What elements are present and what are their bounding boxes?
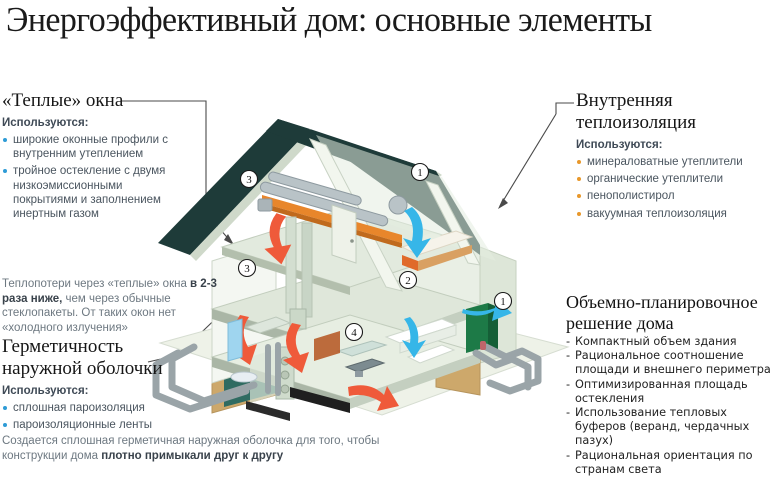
svg-text:3: 3: [246, 174, 252, 186]
insulation-subtitle: Используются:: [576, 139, 778, 151]
list-item: тройное остекление с двумя низкоэмиссион…: [2, 164, 187, 221]
list-item: Оптимизированная площадь остекления: [566, 378, 778, 406]
list-item: минераловатные утеплители: [576, 155, 778, 169]
warm-windows-heading: «Теплые» окна: [2, 90, 187, 112]
list-item: Рациональная ориентация по странам света: [566, 449, 778, 477]
list-item: органические утеплители: [576, 172, 778, 186]
planning-list: Компактный объем здания Рациональное соо…: [566, 335, 778, 477]
planning-heading-line2: решение дома: [566, 313, 778, 334]
block-airtightness: Герметичность наружной оболочки Использу…: [2, 336, 202, 435]
airtightness-heading-line1: Герметичность: [2, 336, 202, 358]
block-volumetric-planning: Объемно-планировочное решение дома Компа…: [566, 292, 778, 477]
cutaway-house-illustration: 1 2 3 3 4 1: [150, 95, 570, 435]
insulation-list: минераловатные утеплители органические у…: [576, 155, 778, 221]
infographic-root: Энергоэффективный дом: основные элементы: [0, 0, 780, 470]
block-warm-windows: «Теплые» окна Используются: широкие окон…: [2, 90, 187, 224]
airtightness-list: сплошная пароизоляция пароизоляционные л…: [2, 401, 202, 432]
warm-windows-list: широкие оконные профили с внутренним уте…: [2, 133, 187, 221]
airtightness-heading-line2: наружной оболочки: [2, 358, 202, 380]
list-item: вакуумная теплоизоляция: [576, 207, 778, 221]
insulation-heading-line1: Внутренняя: [576, 90, 778, 112]
list-item: широкие оконные профили с внутренним уте…: [2, 133, 187, 161]
warm-windows-subtitle: Используются:: [2, 117, 187, 129]
list-item: Рациональное соотношение площади и внешн…: [566, 349, 778, 377]
svg-text:1: 1: [417, 167, 423, 179]
svg-text:3: 3: [244, 263, 250, 275]
svg-text:4: 4: [351, 327, 357, 339]
svg-text:1: 1: [500, 296, 506, 308]
airtightness-subtitle: Используются:: [2, 385, 202, 397]
list-item: пенополистирол: [576, 189, 778, 203]
block-envelope-note: Создается сплошная герметичная наружная …: [2, 434, 422, 463]
svg-text:2: 2: [405, 275, 411, 287]
envelope-note-bold: плотно примыкали друг к другу: [101, 450, 283, 462]
heatloss-line1: Теплопотери через «теплые» окна: [2, 278, 187, 290]
block-internal-insulation: Внутренняя теплоизоляция Используются: м…: [576, 90, 778, 224]
block-window-heatloss-note: Теплопотери через «теплые» окна в 2-3 ра…: [2, 277, 224, 335]
list-item: Использование тепловых буферов (веранд, …: [566, 406, 778, 449]
list-item: Компактный объем здания: [566, 335, 778, 349]
planning-heading-line1: Объемно-планировочное: [566, 292, 778, 313]
list-item: сплошная пароизоляция: [2, 401, 202, 415]
list-item: пароизоляционные ленты: [2, 418, 202, 432]
insulation-heading-line2: теплоизоляция: [576, 112, 778, 134]
page-title: Энергоэффективный дом: основные элементы: [6, 0, 755, 42]
